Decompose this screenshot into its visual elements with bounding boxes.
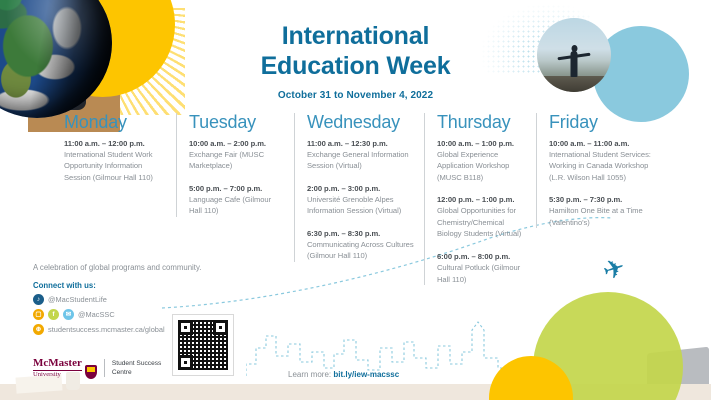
unit-line-1: Student Success — [112, 359, 161, 368]
connect-label: Connect with us: — [33, 281, 218, 290]
event-description: Exchange Fair (MUSC Marketplace) — [189, 149, 284, 172]
event-description: Hamilton One Bite at a Time (Valentino's… — [549, 205, 654, 228]
day-heading-wednesday: Wednesday — [307, 113, 414, 133]
tiktok-icon[interactable]: ♪ — [33, 294, 44, 305]
event-time: 10:00 a.m. – 11:00 a.m. — [549, 138, 654, 149]
event-item: 5:30 p.m. – 7:30 p.m. Hamilton One Bite … — [549, 194, 654, 228]
day-heading-thursday: Thursday — [437, 113, 526, 133]
social-row-tiktok: ♪ @MacStudentLife — [33, 294, 218, 305]
twitter-icon[interactable]: ✉ — [63, 309, 74, 320]
title-line-1: International — [0, 22, 711, 52]
day-column-wednesday: Wednesday 11:00 a.m. – 12:30 p.m. Exchan… — [294, 113, 424, 262]
event-time: 6:30 p.m. – 8:30 p.m. — [307, 228, 414, 239]
mcmaster-text: McMaster University — [33, 358, 82, 379]
schedule-grid: Monday 11:00 a.m. – 12:00 p.m. Internati… — [64, 113, 664, 285]
facebook-icon[interactable]: f — [48, 309, 59, 320]
event-item: 10:00 a.m. – 1:00 p.m. Global Experience… — [437, 138, 526, 184]
event-time: 11:00 a.m. – 12:00 p.m. — [64, 138, 166, 149]
qr-code[interactable] — [172, 314, 234, 376]
poster-header: International Education Week October 31 … — [0, 22, 711, 101]
event-time: 6:00 p.m. – 8:00 p.m. — [437, 251, 526, 262]
day-heading-friday: Friday — [549, 113, 654, 133]
unit-name: Student Success Centre — [112, 359, 161, 377]
learn-more-link[interactable]: bit.ly/iew-macssc — [333, 370, 399, 379]
social-handle-macssc[interactable]: @MacSSC — [78, 310, 115, 319]
day-column-monday: Monday 11:00 a.m. – 12:00 p.m. Internati… — [64, 113, 176, 183]
event-description: Global Experience Application Workshop (… — [437, 149, 526, 184]
tagline-text: A celebration of global programs and com… — [33, 262, 218, 274]
university-name: University — [33, 372, 82, 379]
event-description: Cultural Potluck (Gilmour Hall 110) — [437, 262, 526, 285]
event-time: 11:00 a.m. – 12:30 p.m. — [307, 138, 414, 149]
event-description: Communicating Across Cultures (Gilmour H… — [307, 239, 414, 262]
event-item: 10:00 a.m. – 11:00 a.m. International St… — [549, 138, 654, 184]
day-heading-tuesday: Tuesday — [189, 113, 284, 133]
date-range-subtitle: October 31 to November 4, 2022 — [0, 90, 711, 101]
event-item: 11:00 a.m. – 12:00 p.m. International St… — [64, 138, 166, 184]
learn-more-label: Learn more: — [288, 370, 331, 379]
page-title: International Education Week — [0, 22, 711, 81]
event-time: 10:00 a.m. – 1:00 p.m. — [437, 138, 526, 149]
day-column-friday: Friday 10:00 a.m. – 11:00 a.m. Internati… — [536, 113, 664, 228]
day-column-tuesday: Tuesday 10:00 a.m. – 2:00 p.m. Exchange … — [176, 113, 294, 217]
event-description: International Student Services: Working … — [549, 149, 654, 184]
event-item: 11:00 a.m. – 12:30 p.m. Exchange General… — [307, 138, 414, 172]
website-url[interactable]: studentsuccess.mcmaster.ca/global — [48, 325, 165, 334]
event-description: Université Grenoble Alpes Information Se… — [307, 194, 414, 217]
event-item: 10:00 a.m. – 2:00 p.m. Exchange Fair (MU… — [189, 138, 284, 172]
event-item: 6:00 p.m. – 8:00 p.m. Cultural Potluck (… — [437, 251, 526, 285]
mcmaster-logo: McMaster University Student Success Cent… — [33, 358, 161, 379]
event-item: 5:00 p.m. – 7:00 p.m. Language Cafe (Gil… — [189, 183, 284, 217]
event-time: 5:30 p.m. – 7:30 p.m. — [549, 194, 654, 205]
event-time: 5:00 p.m. – 7:00 p.m. — [189, 183, 284, 194]
qr-code-pattern — [178, 320, 228, 370]
unit-line-2: Centre — [112, 368, 161, 377]
globe-icon[interactable]: ⊕ — [33, 324, 44, 335]
event-time: 10:00 a.m. – 2:00 p.m. — [189, 138, 284, 149]
event-time: 12:00 p.m. – 1:00 p.m. — [437, 194, 526, 205]
event-item: 6:30 p.m. – 8:30 p.m. Communicating Acro… — [307, 228, 414, 262]
day-heading-monday: Monday — [64, 113, 166, 133]
title-line-2: Education Week — [0, 52, 711, 82]
mcmaster-crest-icon — [85, 365, 97, 379]
mcmaster-name: McMaster — [33, 358, 82, 371]
event-time: 2:00 p.m. – 3:00 p.m. — [307, 183, 414, 194]
logo-divider — [104, 359, 105, 377]
event-description: International Student Work Opportunity I… — [64, 149, 166, 184]
poster-canvas: ✈ International Education Week October 3… — [0, 0, 711, 400]
mcmaster-wordmark: McMaster University — [33, 358, 97, 379]
qr-eye-top-left — [178, 320, 193, 335]
qr-eye-top-right — [213, 320, 228, 335]
event-description: Exchange General Information Session (Vi… — [307, 149, 414, 172]
event-item: 2:00 p.m. – 3:00 p.m. Université Grenobl… — [307, 183, 414, 217]
instagram-icon[interactable]: ▢ — [33, 309, 44, 320]
qr-eye-bottom-left — [178, 355, 193, 370]
social-handle-tiktok[interactable]: @MacStudentLife — [48, 295, 107, 304]
learn-more-block: Learn more: bit.ly/iew-macssc — [288, 370, 399, 379]
event-description: Language Cafe (Gilmour Hall 110) — [189, 194, 284, 217]
day-column-thursday: Thursday 10:00 a.m. – 1:00 p.m. Global E… — [424, 113, 536, 285]
event-item: 12:00 p.m. – 1:00 p.m. Global Opportunit… — [437, 194, 526, 240]
event-description: Global Opportunities for Chemistry/Chemi… — [437, 205, 526, 240]
